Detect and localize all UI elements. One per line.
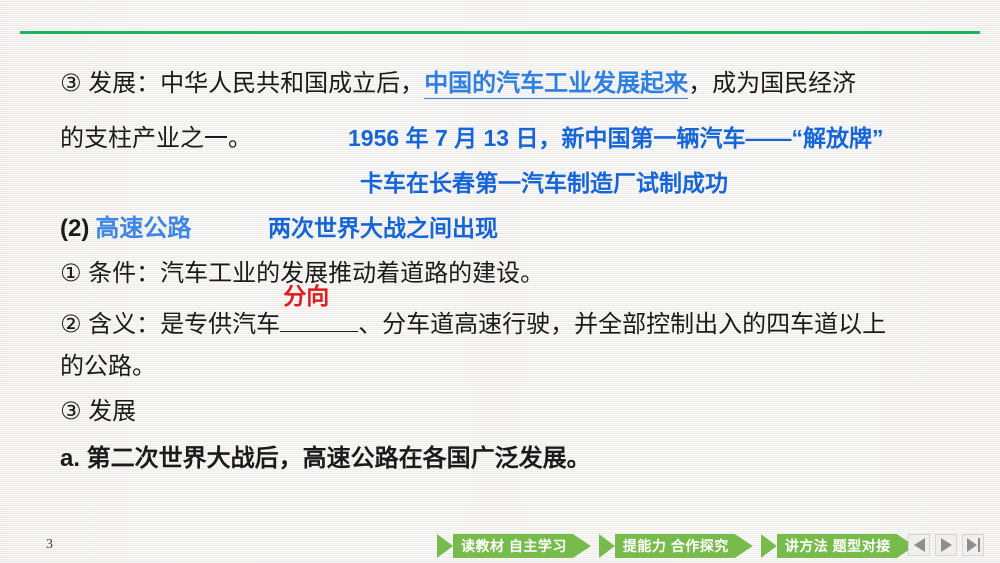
- content-line-8: ③ 发展: [60, 400, 136, 424]
- chevron-tab-label-1: 读教材 自主学习: [453, 534, 573, 558]
- chevron-tab-label-3: 讲方法 题型对接: [777, 534, 897, 558]
- line1-text-after: ，成为国民经济: [688, 70, 856, 97]
- triangle-right-icon: [941, 538, 952, 552]
- line6-text-after: 、分车道高速行驶，并全部控制出入的四车道以上: [358, 311, 886, 338]
- content-line-1: ③ 发展：中华人民共和国成立后，中国的汽车工业发展起来，成为国民经济: [60, 72, 856, 96]
- content-line-4-annotation: 两次世界大战之间出现: [268, 217, 498, 240]
- content-line-4: (2)高速公路: [60, 217, 191, 241]
- line3-annotation-text: 卡车在长春第一汽车制造厂试制成功: [360, 170, 728, 196]
- line2-annotation-text: 1956 年 7 月 13 日，新中国第一辆汽车——“解放牌”: [348, 125, 884, 151]
- section-chevron-bar: 读教材 自主学习 提能力 合作探究 讲方法 题型对接: [437, 533, 923, 559]
- triangle-left-icon: [914, 538, 925, 552]
- line4-topic: 高速公路: [95, 215, 191, 242]
- line8-text: ③ 发展: [60, 398, 136, 425]
- chevron-right-icon: [761, 534, 777, 558]
- line4-annotation-text: 两次世界大战之间出现: [268, 215, 498, 241]
- last-slide-button[interactable]: [962, 534, 984, 556]
- content-line-6: ② 含义：是专供汽车分向、分车道高速行驶，并全部控制出入的四车道以上: [60, 307, 886, 337]
- line7-text: 的公路。: [60, 353, 156, 380]
- chevron-tab-label-2: 提能力 合作探究: [615, 534, 735, 558]
- line1-highlight: 中国的汽车工业发展起来: [424, 70, 688, 99]
- chevron-right-icon: [735, 534, 753, 558]
- top-divider-rule: [20, 31, 980, 34]
- fill-in-blank[interactable]: 分向: [280, 307, 358, 332]
- page-number: 3: [46, 537, 53, 553]
- line4-label: (2): [60, 215, 89, 242]
- chevron-tab-teach-method[interactable]: 讲方法 题型对接: [761, 533, 923, 559]
- line9-text: a. 第二次世界大战后，高速公路在各国广泛发展。: [60, 445, 591, 472]
- line6-text-before: ② 含义：是专供汽车: [60, 311, 280, 338]
- content-line-3-annotation: 卡车在长春第一汽车制造厂试制成功: [360, 172, 728, 195]
- triangle-right-bar-icon: [967, 538, 980, 552]
- content-line-2-left: 的支柱产业之一。: [60, 127, 252, 151]
- chevron-tab-improve-ability[interactable]: 提能力 合作探究: [599, 533, 761, 559]
- content-line-9: a. 第二次世界大战后，高速公路在各国广泛发展。: [60, 447, 591, 471]
- content-line-2-annotation: 1956 年 7 月 13 日，新中国第一辆汽车——“解放牌”: [348, 127, 884, 150]
- chevron-right-icon: [599, 534, 615, 558]
- chevron-right-icon: [573, 534, 591, 558]
- line2-text: 的支柱产业之一。: [60, 125, 252, 152]
- previous-slide-button[interactable]: [908, 534, 930, 556]
- slide-canvas: ③ 发展：中华人民共和国成立后，中国的汽车工业发展起来，成为国民经济 的支柱产业…: [0, 0, 1000, 563]
- fill-in-blank-answer: 分向: [283, 285, 329, 308]
- next-slide-button[interactable]: [935, 534, 957, 556]
- chevron-right-icon: [437, 534, 453, 558]
- content-line-7: 的公路。: [60, 355, 156, 379]
- slide-navigation-buttons: [908, 534, 984, 556]
- chevron-tab-read-textbook[interactable]: 读教材 自主学习: [437, 533, 599, 559]
- line1-text-before: ③ 发展：中华人民共和国成立后，: [60, 70, 424, 97]
